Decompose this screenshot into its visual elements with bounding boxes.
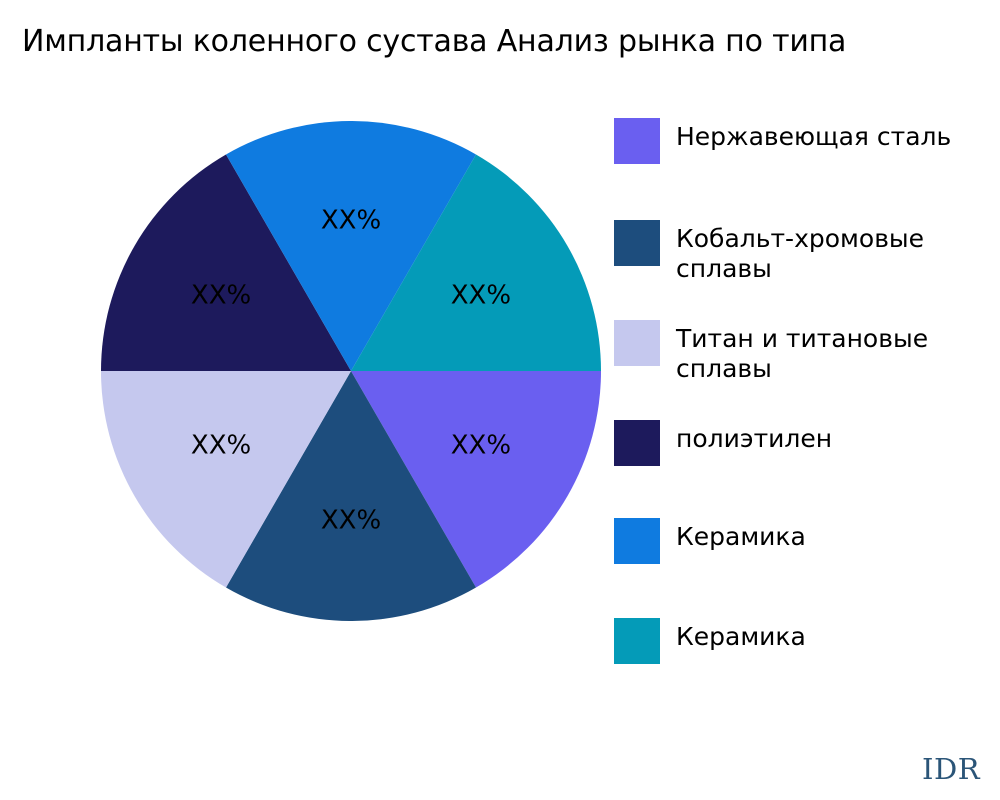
legend-item[interactable]: Титан и титановые сплавы — [614, 320, 928, 384]
pie-slice-label: XX% — [321, 206, 381, 236]
legend-item[interactable]: полиэтилен — [614, 420, 832, 466]
pie-slice-label: XX% — [191, 431, 251, 461]
legend-swatch-icon — [614, 420, 660, 466]
legend-item-label: Нержавеющая сталь — [676, 118, 951, 152]
pie-slice-label: XX% — [451, 431, 511, 461]
legend-swatch-icon — [614, 518, 660, 564]
legend-swatch-icon — [614, 118, 660, 164]
legend-item[interactable]: Керамика — [614, 518, 806, 564]
watermark-idr: IDR — [922, 752, 980, 786]
legend-item-label: Керамика — [676, 618, 806, 652]
legend-item-label: Кобальт-хромовые сплавы — [676, 220, 924, 284]
pie-slice-label: XX% — [321, 506, 381, 536]
legend-swatch-icon — [614, 220, 660, 266]
legend-item[interactable]: Нержавеющая сталь — [614, 118, 951, 164]
pie-svg: XX%XX%XX%XX%XX%XX% — [101, 121, 601, 621]
legend-swatch-icon — [614, 320, 660, 366]
legend-item-label: Титан и титановые сплавы — [676, 320, 928, 384]
chart-title: Импланты коленного сустава Анализ рынка … — [22, 24, 846, 60]
legend-item[interactable]: Кобальт-хромовые сплавы — [614, 220, 924, 284]
pie-chart-figure: Импланты коленного сустава Анализ рынка … — [0, 0, 1000, 800]
pie-slice-label: XX% — [191, 281, 251, 311]
legend-item-label: полиэтилен — [676, 420, 832, 454]
legend-item[interactable]: Керамика — [614, 618, 806, 664]
legend-item-label: Керамика — [676, 518, 806, 552]
pie-slice-label: XX% — [451, 281, 511, 311]
legend-swatch-icon — [614, 618, 660, 664]
pie-plot-area: XX%XX%XX%XX%XX%XX% — [101, 121, 601, 621]
